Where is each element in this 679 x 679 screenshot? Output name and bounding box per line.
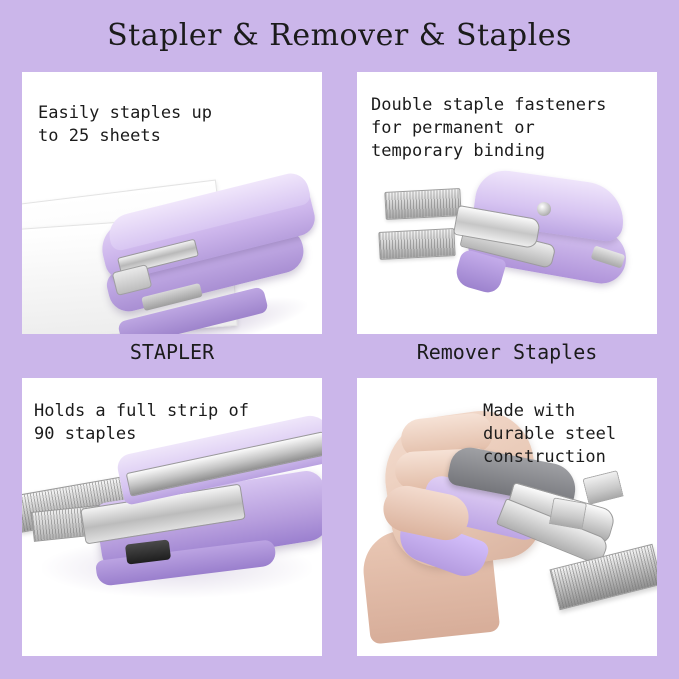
panel-top-right-text: Double staple fasteners for permanent or…: [371, 94, 606, 163]
panel-top-left: Easily staples up to 25 sheets: [22, 72, 322, 334]
staple-block-upper: [384, 188, 461, 220]
panel-bottom-right-text: Made with durable steel construction: [483, 400, 616, 469]
panel-top-left-text: Easily staples up to 25 sheets: [38, 102, 212, 148]
panel-bottom-right: Made with durable steel construction: [357, 378, 657, 656]
page-title: Stapler & Remover & Staples: [0, 18, 679, 53]
staple-single-upper: [582, 470, 623, 505]
caption-stapler: STAPLER: [22, 340, 322, 364]
panel-bottom-left: Holds a full strip of 90 staples: [22, 378, 322, 656]
product-infographic: Stapler & Remover & Staples Easily stapl…: [0, 0, 679, 679]
panel-bottom-left-text: Holds a full strip of 90 staples: [34, 400, 249, 446]
staple-single-lower: [549, 497, 587, 529]
staple-lines: [379, 229, 454, 259]
staple-lines: [385, 189, 460, 219]
staple-block-lower: [378, 228, 455, 260]
panel-top-right: Double staple fasteners for permanent or…: [357, 72, 657, 334]
caption-remover-staples: Remover Staples: [357, 340, 657, 364]
